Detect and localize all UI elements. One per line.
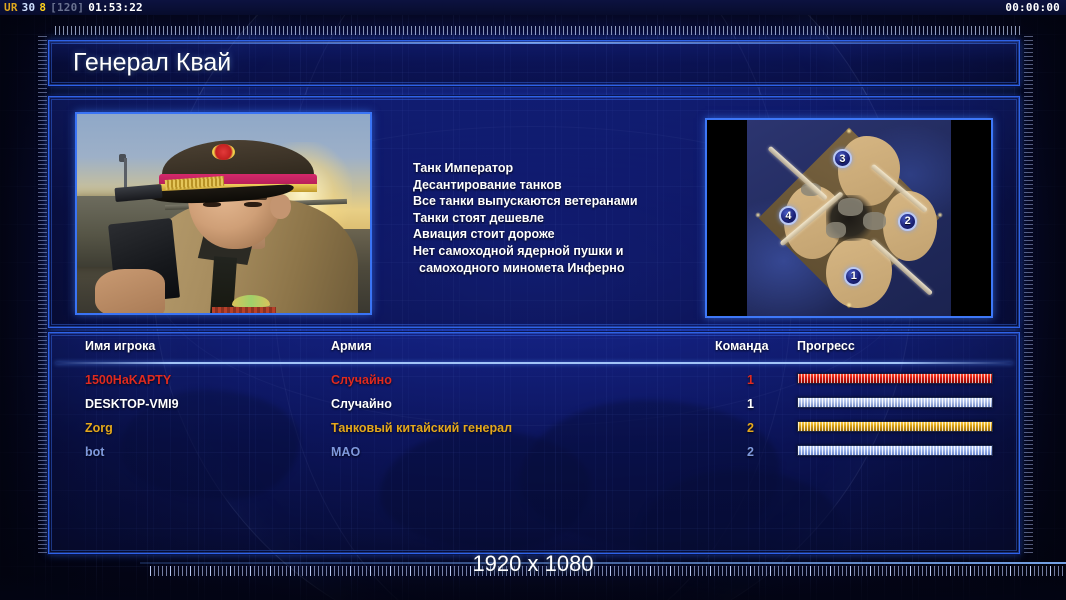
map-rock bbox=[838, 198, 864, 216]
header-team: Команда bbox=[715, 339, 769, 353]
table-row[interactable]: 1500HaKAPTYСлучайно1 bbox=[49, 369, 1019, 393]
player-name: Zorg bbox=[85, 421, 113, 435]
ability-line: Все танки выпускаются ветеранами bbox=[413, 193, 703, 210]
header-player-name: Имя игрока bbox=[85, 339, 155, 353]
player-name: DESKTOP-VMI9 bbox=[85, 397, 179, 411]
ability-line: самоходного миномета Инферно bbox=[413, 260, 703, 277]
player-list-panel: Имя игрока Армия Команда Прогресс 1500Ha… bbox=[48, 332, 1020, 554]
map-start-position-4[interactable]: 4 bbox=[779, 206, 798, 225]
header-divider bbox=[55, 362, 1013, 364]
player-army[interactable]: Случайно bbox=[331, 397, 392, 411]
ability-line: Танки стоят дешевле bbox=[413, 210, 703, 227]
player-team[interactable]: 1 bbox=[747, 373, 754, 387]
title-highlight bbox=[50, 42, 1018, 44]
player-progress bbox=[797, 373, 993, 384]
clock-display: 01:53:22 bbox=[84, 1, 143, 14]
map-resource-marker bbox=[937, 212, 943, 218]
ping-max: [120] bbox=[46, 1, 84, 14]
player-army[interactable]: MAO bbox=[331, 445, 360, 459]
map-resource-marker bbox=[846, 302, 852, 308]
footer-shade bbox=[0, 574, 1066, 600]
header-progress: Прогресс bbox=[797, 339, 855, 353]
resolution-label: 1920 x 1080 bbox=[0, 551, 1066, 577]
map-resource-marker bbox=[755, 212, 761, 218]
header-army: Армия bbox=[331, 339, 372, 353]
ping-value: 8 bbox=[35, 1, 46, 14]
player-progress bbox=[797, 397, 993, 408]
progress-bar bbox=[797, 421, 993, 432]
ruler-right bbox=[1024, 36, 1033, 556]
start-position-label: 1 bbox=[851, 270, 857, 282]
portrait-ear bbox=[270, 194, 291, 220]
map-start-position-3[interactable]: 3 bbox=[833, 149, 852, 168]
player-army[interactable]: Танковый китайский генерал bbox=[331, 421, 512, 435]
map-resource-marker bbox=[846, 128, 852, 134]
portrait-cap-badge bbox=[212, 144, 235, 160]
map-rock bbox=[863, 212, 886, 230]
ability-line: Авиация стоит дороже bbox=[413, 226, 703, 243]
timer-display: 00:00:00 bbox=[1005, 1, 1066, 14]
portrait-ribbon-bar bbox=[212, 307, 276, 313]
start-position-label: 3 bbox=[839, 153, 845, 165]
ur-label: UR bbox=[0, 1, 18, 14]
general-title-panel: Генерал Квай bbox=[48, 40, 1020, 86]
ability-line: Нет самоходной ядерной пушки и bbox=[413, 243, 703, 260]
map-rock bbox=[826, 222, 846, 238]
progress-bar bbox=[797, 397, 993, 408]
player-team[interactable]: 2 bbox=[747, 445, 754, 459]
player-team[interactable]: 2 bbox=[747, 421, 754, 435]
player-name: 1500HaKAPTY bbox=[85, 373, 171, 387]
page-title: Генерал Квай bbox=[73, 49, 231, 78]
player-team[interactable]: 1 bbox=[747, 397, 754, 411]
game-lobby-screen: UR 30 8 [120] 01:53:22 00:00:00 Генерал … bbox=[0, 0, 1066, 600]
table-row[interactable]: DESKTOP-VMI9Случайно1 bbox=[49, 393, 1019, 417]
player-progress bbox=[797, 421, 993, 432]
progress-bar bbox=[797, 373, 993, 384]
portrait-eye bbox=[244, 202, 262, 207]
progress-bar bbox=[797, 445, 993, 456]
map-letterbox-left bbox=[707, 120, 747, 316]
map-start-position-1[interactable]: 1 bbox=[844, 267, 863, 286]
player-table-header: Имя игрока Армия Команда Прогресс bbox=[49, 339, 1019, 361]
start-position-label: 4 bbox=[785, 210, 791, 222]
portrait-hand bbox=[95, 269, 165, 315]
player-progress bbox=[797, 445, 993, 456]
status-bar: UR 30 8 [120] 01:53:22 00:00:00 bbox=[0, 0, 1066, 15]
map-letterbox-right bbox=[951, 120, 991, 316]
map-preview[interactable]: 1 2 3 4 bbox=[705, 118, 993, 318]
start-position-label: 2 bbox=[905, 215, 911, 227]
player-army[interactable]: Случайно bbox=[331, 373, 392, 387]
ability-line: Десантирование танков bbox=[413, 177, 703, 194]
ruler-top bbox=[55, 26, 1020, 35]
table-row[interactable]: botMAO2 bbox=[49, 441, 1019, 465]
ability-line: Танк Император bbox=[413, 160, 703, 177]
ur-value: 30 bbox=[18, 1, 36, 14]
table-row[interactable]: ZorgТанковый китайский генерал2 bbox=[49, 417, 1019, 441]
general-portrait bbox=[75, 112, 372, 315]
general-ability-list: Танк Император Десантирование танков Все… bbox=[413, 160, 703, 276]
ruler-left bbox=[38, 36, 47, 556]
player-name: bot bbox=[85, 445, 104, 459]
